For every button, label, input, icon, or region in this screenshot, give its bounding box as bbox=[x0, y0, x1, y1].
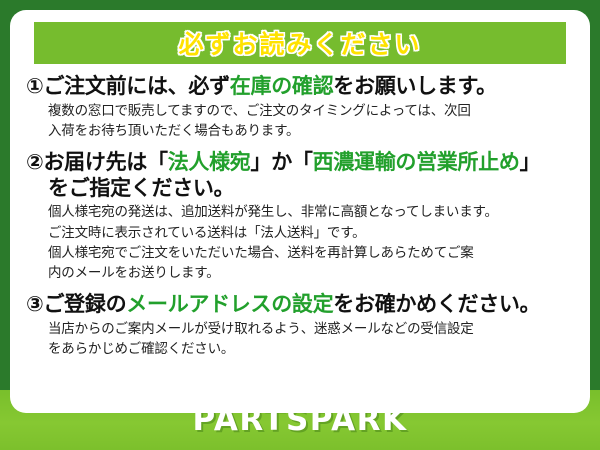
notice-heading-highlight: 法人様宛 bbox=[168, 150, 251, 174]
notice-number-icon: ③ bbox=[26, 292, 43, 316]
notice-number-icon: ② bbox=[26, 150, 43, 174]
notice-body-line: 個人様宅宛の発送は、追加送料が発生し、非常に高額となってしまいます。 bbox=[48, 202, 574, 222]
notice-body-line: ご注文時に表示されている送料は「法人送料」です。 bbox=[48, 223, 574, 243]
notice-list: ①ご注文前には、必ず在庫の確認をお願いします。複数の窓口で販売してますので、ご注… bbox=[26, 74, 574, 359]
notice-heading-continuation: をご指定ください。 bbox=[26, 176, 574, 202]
notice-body-line: 個人様宅宛でご注文をいただいた場合、送料を再計算しあらためてご案 bbox=[48, 243, 574, 263]
notice-heading-bracket: 「 bbox=[292, 150, 313, 174]
notice-heading: ③ご登録のメールアドレスの設定をお確かめください。 bbox=[26, 292, 574, 318]
notice-item: ③ご登録のメールアドレスの設定をお確かめください。当店からのご案内メールが受け取… bbox=[26, 292, 574, 359]
notice-heading-highlight: 在庫の確認 bbox=[230, 74, 334, 98]
notice-heading-text: をお確かめください。 bbox=[333, 292, 540, 316]
header-banner: 必ずお読みください bbox=[34, 22, 566, 64]
notice-heading-text: お届け先は bbox=[43, 150, 147, 174]
notice-card: PARTSPARK 必ずお読みください ①ご注文前には、必ず在庫の確認をお願いし… bbox=[0, 0, 600, 450]
notice-body-line: 複数の窓口で販売してますので、ご注文のタイミングによっては、次回 bbox=[48, 101, 574, 121]
notice-number-icon: ① bbox=[26, 74, 43, 98]
notice-heading-bracket: 」 bbox=[520, 150, 541, 174]
notice-heading-text: をお願いします。 bbox=[333, 74, 497, 98]
notice-heading: ①ご注文前には、必ず在庫の確認をお願いします。 bbox=[26, 74, 574, 100]
notice-body-line: 入荷をお待ち頂いただく場合もあります。 bbox=[48, 121, 574, 141]
notice-item: ①ご注文前には、必ず在庫の確認をお願いします。複数の窓口で販売してますので、ご注… bbox=[26, 74, 574, 141]
notice-body: 複数の窓口で販売してますので、ご注文のタイミングによっては、次回入荷をお待ち頂い… bbox=[26, 101, 574, 142]
notice-body-line: 当店からのご案内メールが受け取れるよう、迷惑メールなどの受信設定 bbox=[48, 319, 574, 339]
notice-body-line: 内のメールをお送りします。 bbox=[48, 263, 574, 283]
notice-body: 個人様宅宛の発送は、追加送料が発生し、非常に高額となってしまいます。ご注文時に表… bbox=[26, 202, 574, 283]
notice-heading-bracket: 「 bbox=[147, 150, 168, 174]
notice-item: ②お届け先は「法人様宛」か「西濃運輸の営業所止め」をご指定ください。個人様宅宛の… bbox=[26, 150, 574, 283]
notice-heading-text: ご登録の bbox=[43, 292, 126, 316]
notice-heading-highlight: メールアドレスの設定 bbox=[126, 292, 333, 316]
page-title: 必ずお読みください bbox=[178, 25, 421, 61]
content-panel: 必ずお読みください ①ご注文前には、必ず在庫の確認をお願いします。複数の窓口で販… bbox=[10, 10, 590, 413]
notice-body: 当店からのご案内メールが受け取れるよう、迷惑メールなどの受信設定をあらかじめご確… bbox=[26, 319, 574, 360]
notice-heading: ②お届け先は「法人様宛」か「西濃運輸の営業所止め」をご指定ください。 bbox=[26, 150, 574, 201]
notice-heading-bracket: 」 bbox=[251, 150, 272, 174]
notice-heading-text: ご注文前には、必ず bbox=[43, 74, 229, 98]
notice-heading-highlight: 西濃運輸の営業所止め bbox=[313, 150, 520, 174]
notice-heading-text: か bbox=[271, 150, 292, 174]
notice-body-line: をあらかじめご確認ください。 bbox=[48, 339, 574, 359]
